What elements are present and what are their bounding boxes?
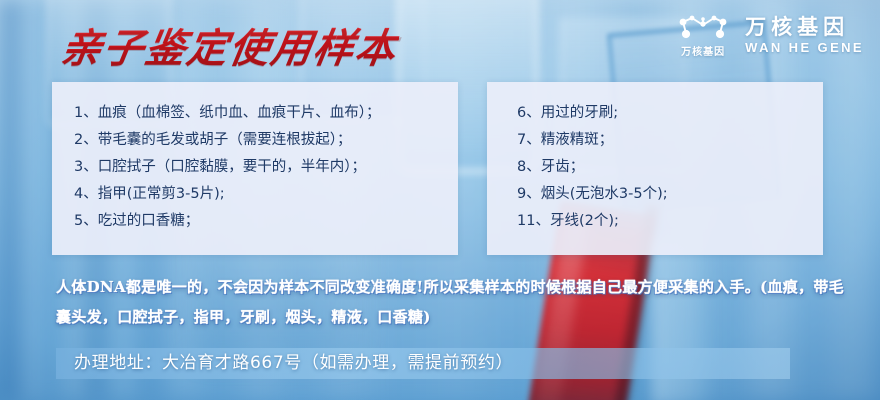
list-item: 9、烟头(无泡水3-5个); — [517, 187, 823, 202]
list-item: 1、血痕（血棉签、纸巾血、血痕干片、血布）； — [74, 106, 458, 121]
list-item: 5、吃过的口香糖； — [74, 214, 458, 229]
list-item: 8、牙齿； — [517, 160, 823, 175]
dna-molecule-icon — [677, 14, 729, 40]
list-item: 4、指甲(正常剪3-5片); — [74, 187, 458, 202]
brand-name-en: WAN HE GENE — [745, 41, 864, 55]
list-item: 7、精液精斑； — [517, 133, 823, 148]
sample-list-right: 6、用过的牙刷; 7、精液精斑； 8、牙齿； 9、烟头(无泡水3-5个); 11… — [487, 82, 823, 229]
poster-root: 亲子鉴定使用样本 — [0, 0, 880, 400]
page-title: 亲子鉴定使用样本 — [57, 16, 402, 74]
list-item: 6、用过的牙刷; — [517, 106, 823, 121]
sample-list-panel-left: 1、血痕（血棉签、纸巾血、血痕干片、血布）； 2、带毛囊的毛发或胡子（需要连根拔… — [52, 82, 458, 255]
note-paragraph: 人体DNA都是唯一的，不会因为样本不同改变准确度!所以采集样本的时候根据自己最方… — [56, 272, 846, 332]
sample-list-panel-right: 6、用过的牙刷; 7、精液精斑； 8、牙齿； 9、烟头(无泡水3-5个); 11… — [487, 82, 823, 255]
list-item: 3、口腔拭子（口腔黏膜，要干的，半年内）； — [74, 160, 458, 175]
brand-logo: 万核基因 万核基因 WAN HE GENE — [677, 14, 864, 58]
address-text: 办理地址：大冶育才路667号（如需办理，需提前预约） — [74, 350, 513, 377]
sample-list-left: 1、血痕（血棉签、纸巾血、血痕干片、血布）； 2、带毛囊的毛发或胡子（需要连根拔… — [52, 82, 458, 229]
logo-mark: 万核基因 — [677, 14, 729, 58]
brand-name-cn: 万核基因 — [745, 16, 864, 39]
logo-mark-label: 万核基因 — [681, 43, 725, 58]
list-item: 11、牙线(2个); — [517, 214, 823, 229]
brand-text: 万核基因 WAN HE GENE — [745, 16, 864, 55]
list-item: 2、带毛囊的毛发或胡子（需要连根拔起）； — [74, 133, 458, 148]
